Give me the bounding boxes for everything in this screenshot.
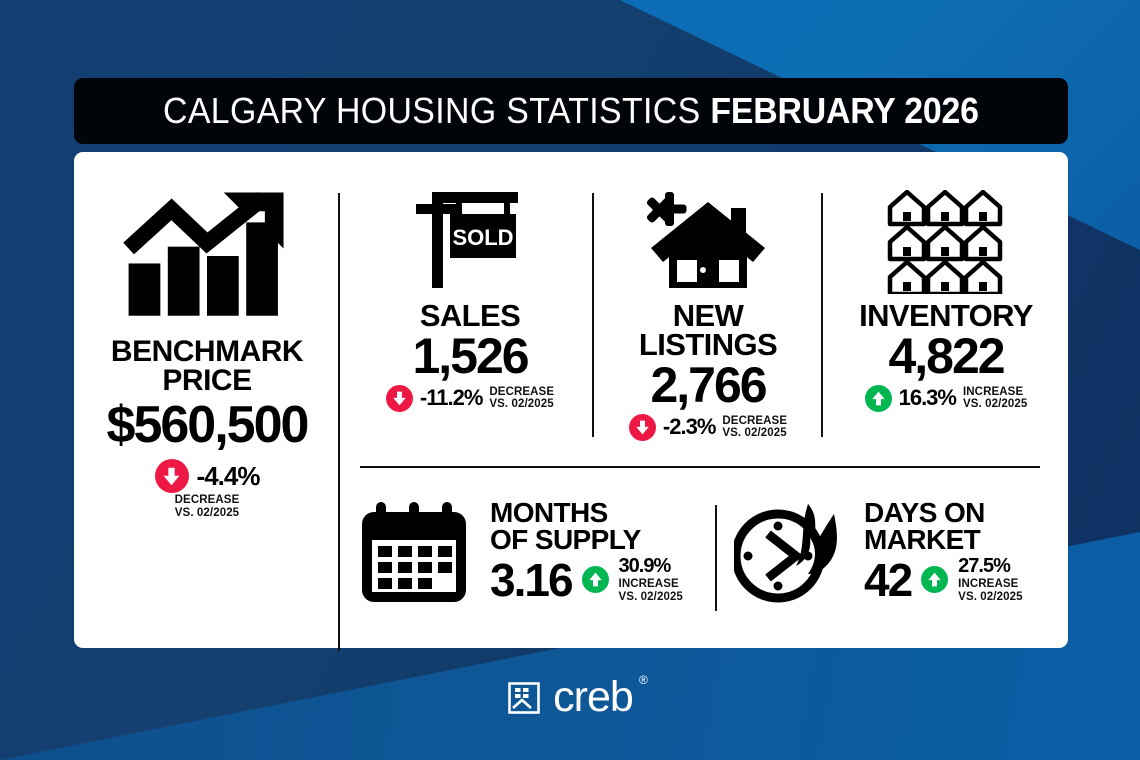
stat-days-on-market-change-pct: 27.5% — [958, 555, 1022, 578]
calendar-icon — [360, 500, 468, 604]
page-title: CALGARY HOUSING STATISTICS FEBRUARY 2026 — [163, 90, 979, 132]
benchmark-change: -4.4% — [155, 459, 260, 493]
stat-days-on-market-change-note: INCREASE VS. 02/2025 — [958, 578, 1022, 603]
stat-months-of-supply-value-row: 3.16 30.9% INCREASE VS. 02/2025 — [490, 555, 683, 603]
arrow-down-icon — [629, 414, 656, 441]
stat-sales-label: SALES — [420, 302, 520, 331]
stat-new-listings-value: 2,766 — [650, 360, 765, 411]
stat-inventory-label-line1: INVENTORY — [859, 302, 1033, 331]
divider-vertical-mid — [592, 193, 594, 437]
sold-sign-icon: SOLD — [408, 186, 532, 294]
stat-sales-value: 1,526 — [412, 331, 527, 382]
stat-sales-icon-wrap: SOLD — [408, 186, 532, 294]
header-title-bar: CALGARY HOUSING STATISTICS FEBRUARY 2026 — [74, 78, 1068, 144]
stat-days-on-market: DAYS ON MARKET 42 27.5% INCREASE VS. 02/… — [734, 500, 1023, 604]
stat-new-listings-icon-wrap — [645, 186, 771, 294]
benchmark-change-pct: -4.4% — [197, 461, 260, 492]
stat-months-of-supply-label: MONTHS OF SUPPLY — [490, 500, 683, 553]
stat-new-listings: NEW LISTINGS 2,766 -2.3% DECREASE VS. 02… — [608, 186, 808, 441]
stat-inventory-change: 16.3% INCREASE VS. 02/2025 — [865, 385, 1028, 412]
stat-months-of-supply-label-line1: MONTHS — [490, 500, 683, 527]
stat-days-on-market-label-line1: DAYS ON — [864, 500, 1023, 527]
benchmark-label-line1: BENCHMARK — [111, 338, 303, 367]
benchmark-change-word: DECREASE — [175, 494, 240, 507]
stat-sales-change-period: VS. 02/2025 — [489, 398, 554, 411]
stat-inventory-change-period: VS. 02/2025 — [963, 398, 1027, 411]
benchmark-change-note: DECREASE VS. 02/2025 — [175, 494, 240, 519]
stat-new-listings-change-period: VS. 02/2025 — [722, 427, 787, 440]
stat-days-on-market-change-period: VS. 02/2025 — [958, 591, 1022, 604]
stat-sales-label-line1: SALES — [420, 302, 520, 331]
stat-sales-change-pct: -11.2% — [420, 385, 483, 411]
nine-houses-icon — [887, 190, 1005, 294]
benchmark-value: $560,500 — [107, 399, 308, 451]
stat-inventory-value: 4,822 — [888, 331, 1003, 382]
stat-days-on-market-label-line2: MARKET — [864, 527, 1023, 554]
sold-sign-text: SOLD — [452, 225, 513, 250]
stat-new-listings-change-note: DECREASE VS. 02/2025 — [722, 415, 787, 440]
arrow-up-icon — [582, 566, 609, 593]
stat-sales-change: -11.2% DECREASE VS. 02/2025 — [386, 385, 554, 412]
benchmark-label: BENCHMARK PRICE — [111, 338, 303, 395]
stat-months-of-supply-label-line2: OF SUPPLY — [490, 527, 683, 554]
stat-new-listings-label-line2: LISTINGS — [639, 331, 777, 360]
stat-days-on-market-value: 42 — [864, 557, 911, 603]
stat-sales-change-word: DECREASE — [489, 386, 554, 399]
registered-trademark-symbol: ® — [639, 674, 647, 686]
title-main: CALGARY HOUSING STATISTICS — [163, 90, 701, 131]
stat-sales: SOLD SALES 1,526 -11.2% DECREASE VS. 02/… — [370, 186, 570, 412]
stat-months-of-supply-change-word: INCREASE — [619, 578, 683, 591]
arrow-down-icon — [386, 385, 413, 412]
new-house-icon — [645, 190, 771, 294]
stat-days-on-market-label: DAYS ON MARKET — [864, 500, 1023, 553]
stat-days-on-market-value-row: 42 27.5% INCREASE VS. 02/2025 — [864, 555, 1023, 603]
stat-months-of-supply-change-period: VS. 02/2025 — [619, 591, 683, 604]
stat-inventory-icon-wrap — [887, 186, 1005, 294]
stat-months-of-supply: MONTHS OF SUPPLY 3.16 30.9% INCREASE VS.… — [360, 500, 683, 604]
arrow-down-icon — [155, 459, 189, 493]
stat-new-listings-label: NEW LISTINGS — [639, 302, 777, 360]
divider-vertical-bottom — [715, 505, 717, 611]
footer-logo: creb® — [0, 676, 1140, 719]
creb-wordmark: creb® — [553, 676, 633, 719]
benchmark-price-block: BENCHMARK PRICE $560,500 -4.4% DECREASE … — [82, 168, 332, 519]
creb-house-icon — [507, 681, 541, 715]
stat-new-listings-change-pct: -2.3% — [663, 414, 715, 440]
divider-horizontal — [360, 466, 1040, 468]
stat-new-listings-change-word: DECREASE — [722, 415, 787, 428]
stat-inventory-change-note: INCREASE VS. 02/2025 — [963, 386, 1027, 411]
benchmark-change-period: VS. 02/2025 — [175, 507, 240, 520]
stat-months-of-supply-value: 3.16 — [490, 557, 572, 603]
flaming-clock-icon — [734, 500, 846, 604]
stat-inventory-change-pct: 16.3% — [899, 385, 956, 411]
stat-days-on-market-text: DAYS ON MARKET 42 27.5% INCREASE VS. 02/… — [864, 500, 1023, 603]
arrow-up-icon — [921, 566, 948, 593]
growth-chart-icon — [123, 190, 291, 322]
title-period: FEBRUARY 2026 — [710, 90, 978, 131]
stat-months-of-supply-change-pct: 30.9% — [619, 555, 683, 578]
stat-new-listings-change: -2.3% DECREASE VS. 02/2025 — [629, 414, 787, 441]
divider-vertical-right — [821, 193, 823, 437]
stat-inventory-change-word: INCREASE — [963, 386, 1027, 399]
stats-card: BENCHMARK PRICE $560,500 -4.4% DECREASE … — [74, 152, 1068, 648]
stat-sales-change-note: DECREASE VS. 02/2025 — [489, 386, 554, 411]
stat-months-of-supply-change-note: INCREASE VS. 02/2025 — [619, 578, 683, 603]
stat-inventory: INVENTORY 4,822 16.3% INCREASE VS. 02/20… — [836, 186, 1056, 412]
creb-wordmark-text: creb — [553, 673, 633, 721]
stat-months-of-supply-text: MONTHS OF SUPPLY 3.16 30.9% INCREASE VS.… — [490, 500, 683, 603]
stat-days-on-market-change-word: INCREASE — [958, 578, 1022, 591]
arrow-up-icon — [865, 385, 892, 412]
benchmark-label-line2: PRICE — [111, 367, 303, 396]
stat-inventory-label: INVENTORY — [859, 302, 1033, 331]
divider-vertical-left — [338, 193, 340, 651]
